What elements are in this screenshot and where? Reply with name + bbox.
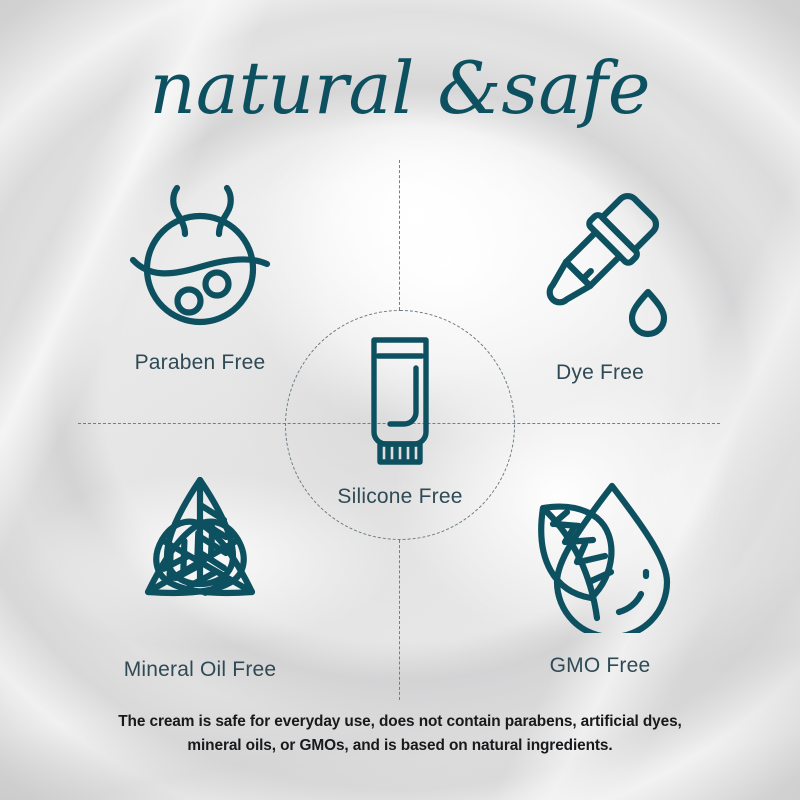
feature-label-mineral-oil-free: Mineral Oil Free: [55, 658, 345, 682]
footer-line-1: The cream is safe for everyday use, does…: [70, 710, 730, 734]
cream-tube-icon: [285, 330, 515, 475]
three-leaves-icon: [55, 470, 345, 640]
natural-and-safe-infographic: natural &safe Paraben Free: [0, 0, 800, 800]
feature-mineral-oil-free: Mineral Oil Free: [55, 470, 345, 682]
footer-description: The cream is safe for everyday use, does…: [70, 710, 730, 758]
feature-gmo-free: GMO Free: [460, 478, 740, 678]
pipette-dropper-icon: [460, 180, 740, 345]
feature-label-gmo-free: GMO Free: [460, 654, 740, 678]
divider-vertical-bottom: [399, 540, 400, 700]
footer-line-2: mineral oils, or GMOs, and is based on n…: [70, 734, 730, 758]
leaf-in-droplet-icon: [460, 478, 740, 638]
page-title: natural &safe: [0, 52, 800, 124]
ladybug-icon: [60, 172, 340, 337]
divider-vertical-top: [399, 160, 400, 310]
